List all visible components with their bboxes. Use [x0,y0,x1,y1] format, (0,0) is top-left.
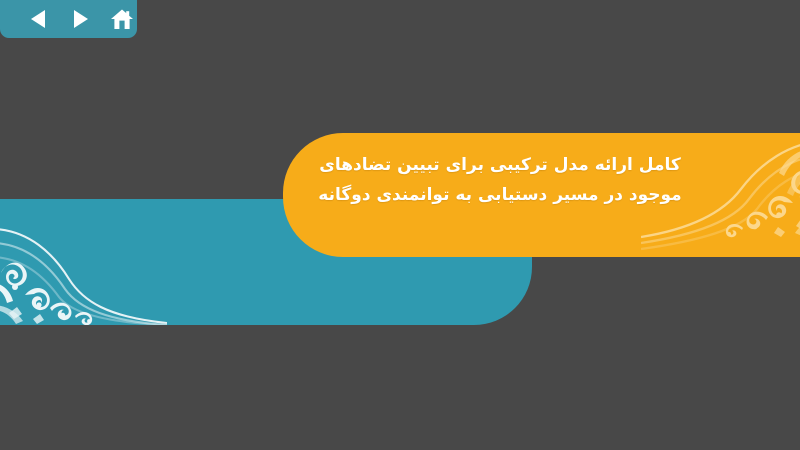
back-button[interactable] [26,6,50,32]
arabesque-ornament-teal [0,213,167,325]
forward-button[interactable] [68,6,92,32]
home-button[interactable] [110,6,134,32]
home-icon [110,8,134,31]
slide-title-line-2: موجود در مسیر دستیابی به توانمندی دوگانه [300,180,700,210]
slide-title-line-1: کامل ارائه مدل ترکیبی برای تبیین تضادهای [300,150,700,180]
navigation-bar [0,0,137,38]
triangle-right-icon [72,9,89,29]
slide-title: کامل ارائه مدل ترکیبی برای تبیین تضادهای… [300,150,700,210]
triangle-left-icon [30,9,47,29]
